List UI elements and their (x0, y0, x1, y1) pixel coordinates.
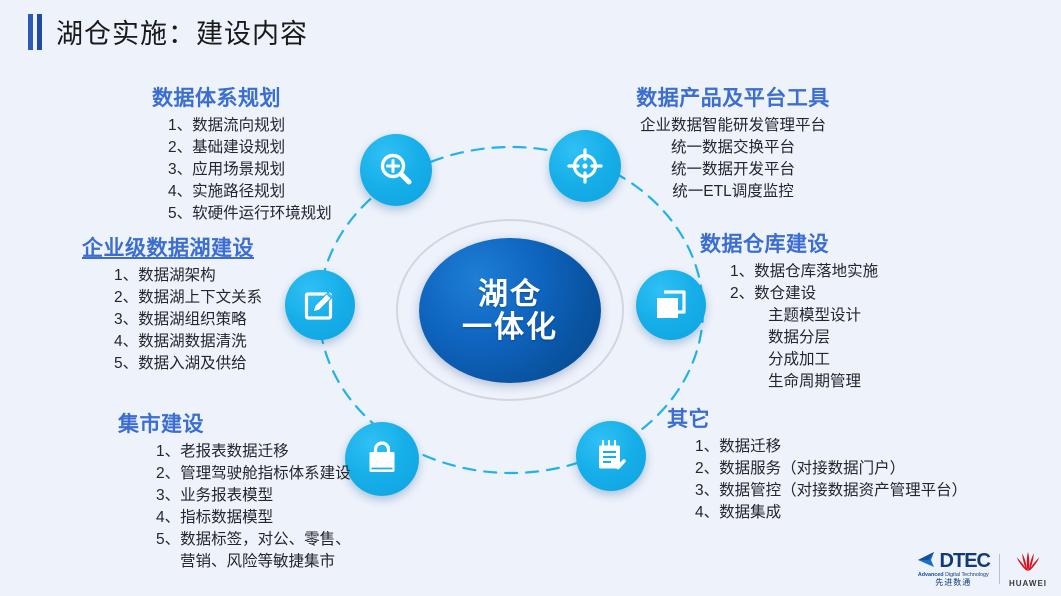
list-item: 1、数据湖架构 (114, 265, 262, 287)
block-list: 1、数据流向规划 2、基础建设规划 3、应用场景规划 4、实施路径规划 5、软硬… (168, 115, 332, 225)
edit-pencil-icon (301, 286, 339, 324)
copy-duplicate-icon (652, 286, 690, 324)
list-item: 企业数据智能研发管理平台 (600, 115, 866, 137)
list-item: 4、数据湖数据清洗 (114, 331, 262, 353)
list-item: 4、指标数据模型 (156, 507, 351, 529)
list-item: 5、数据标签，对公、零售、 (156, 529, 351, 551)
zoom-in-icon (376, 150, 416, 190)
hub-line-2: 一体化 (462, 311, 558, 344)
dtec-arrow-icon (917, 551, 939, 572)
page-title-text: 湖仓实施：建设内容 (56, 12, 308, 51)
checklist-notepad-icon (592, 437, 630, 475)
list-item: 2、基础建设规划 (168, 137, 332, 159)
title-accent-bars-icon (28, 14, 42, 50)
list-item: 1、数据流向规划 (168, 115, 332, 137)
node-data-mart[interactable] (345, 422, 419, 496)
dtec-logo-row: DTEC (917, 551, 990, 572)
list-sub-item: 分成加工 (730, 349, 878, 371)
list-item: 3、业务报表模型 (156, 485, 351, 507)
dtec-tagline-rest: Digital Technology (944, 572, 989, 578)
footer-logos: DTEC Advanced Digital Technology 先进数通 HU… (917, 550, 1047, 588)
list-item: 统一数据交换平台 (600, 137, 866, 159)
node-data-system-planning[interactable] (360, 134, 432, 206)
block-list: 企业数据智能研发管理平台 统一数据交换平台 统一数据开发平台 统一ETL调度监控 (600, 115, 866, 203)
crosshair-target-icon (565, 146, 605, 186)
dtec-tagline-bold: Advanced (918, 572, 944, 578)
logo-divider (999, 554, 1000, 584)
huawei-wordmark: HUAWEI (1009, 580, 1047, 588)
list-item: 5、软硬件运行环境规划 (168, 203, 332, 225)
block-heading: 其它 (667, 403, 967, 433)
block-list: 1、数据仓库落地实施 2、数仓建设 主题模型设计 数据分层 分成加工 生命周期管… (730, 261, 878, 393)
dtec-logo: DTEC Advanced Digital Technology 先进数通 (917, 551, 990, 587)
list-item: 1、老报表数据迁移 (156, 441, 351, 463)
block-others: 其它 1、数据迁移 2、数据服务（对接数据门户） 3、数据管控（对接数据资产管理… (667, 403, 967, 524)
block-data-mart: 集市建设 1、老报表数据迁移 2、管理驾驶舱指标体系建设 3、业务报表模型 4、… (118, 408, 351, 573)
block-data-product-platform: 数据产品及平台工具 企业数据智能研发管理平台 统一数据交换平台 统一数据开发平台… (600, 82, 866, 203)
list-sub-item: 生命周期管理 (730, 371, 878, 393)
list-item: 3、数据管控（对接数据资产管理平台） (695, 480, 967, 502)
list-item: 2、数据湖上下文关系 (114, 287, 262, 309)
hub-center: 湖仓 一体化 (419, 238, 601, 383)
shopping-bag-icon (362, 439, 402, 479)
hub-line-1: 湖仓 (478, 278, 542, 311)
block-heading: 企业级数据湖建设 (82, 232, 262, 262)
list-item: 2、数据服务（对接数据门户） (695, 458, 967, 480)
block-list: 1、老报表数据迁移 2、管理驾驶舱指标体系建设 3、业务报表模型 4、指标数据模… (156, 441, 351, 573)
list-item: 4、实施路径规划 (168, 181, 332, 203)
list-sub-item: 数据分层 (730, 327, 878, 349)
block-list: 1、数据迁移 2、数据服务（对接数据门户） 3、数据管控（对接数据资产管理平台）… (695, 436, 967, 524)
list-item: 2、管理驾驶舱指标体系建设 (156, 463, 351, 485)
list-item: 1、数据迁移 (695, 436, 967, 458)
block-heading: 数据体系规划 (152, 82, 332, 112)
block-enterprise-data-lake: 企业级数据湖建设 1、数据湖架构 2、数据湖上下文关系 3、数据湖组织策略 4、… (82, 232, 262, 375)
list-item: 1、数据仓库落地实施 (730, 261, 878, 283)
page-title: 湖仓实施：建设内容 (28, 12, 308, 51)
dtec-wordmark: DTEC (940, 551, 990, 571)
node-others[interactable] (576, 421, 646, 491)
block-heading: 集市建设 (118, 408, 351, 438)
list-item: 统一数据开发平台 (600, 159, 866, 181)
list-item: 2、数仓建设 (730, 283, 878, 305)
block-list: 1、数据湖架构 2、数据湖上下文关系 3、数据湖组织策略 4、数据湖数据清洗 5… (114, 265, 262, 375)
list-sub-item: 主题模型设计 (730, 305, 878, 327)
slide-canvas: 湖仓实施：建设内容 湖仓 一体化 (0, 0, 1061, 596)
list-item-continuation: 营销、风险等敏捷集市 (156, 551, 351, 573)
block-heading: 数据产品及平台工具 (600, 82, 866, 112)
node-enterprise-data-lake[interactable] (285, 270, 355, 340)
block-data-warehouse: 数据仓库建设 1、数据仓库落地实施 2、数仓建设 主题模型设计 数据分层 分成加… (700, 228, 878, 393)
node-data-warehouse[interactable] (636, 270, 706, 340)
list-item: 3、应用场景规划 (168, 159, 332, 181)
list-item: 4、数据集成 (695, 502, 967, 524)
list-item: 统一ETL调度监控 (600, 181, 866, 203)
list-item: 5、数据入湖及供给 (114, 353, 262, 375)
huawei-logo: HUAWEI (1009, 550, 1047, 588)
block-heading: 数据仓库建设 (700, 228, 878, 258)
list-item: 3、数据湖组织策略 (114, 309, 262, 331)
block-data-system-planning: 数据体系规划 1、数据流向规划 2、基础建设规划 3、应用场景规划 4、实施路径… (120, 82, 332, 225)
dtec-chinese-name: 先进数通 (935, 579, 971, 587)
huawei-flower-icon (1011, 550, 1045, 578)
